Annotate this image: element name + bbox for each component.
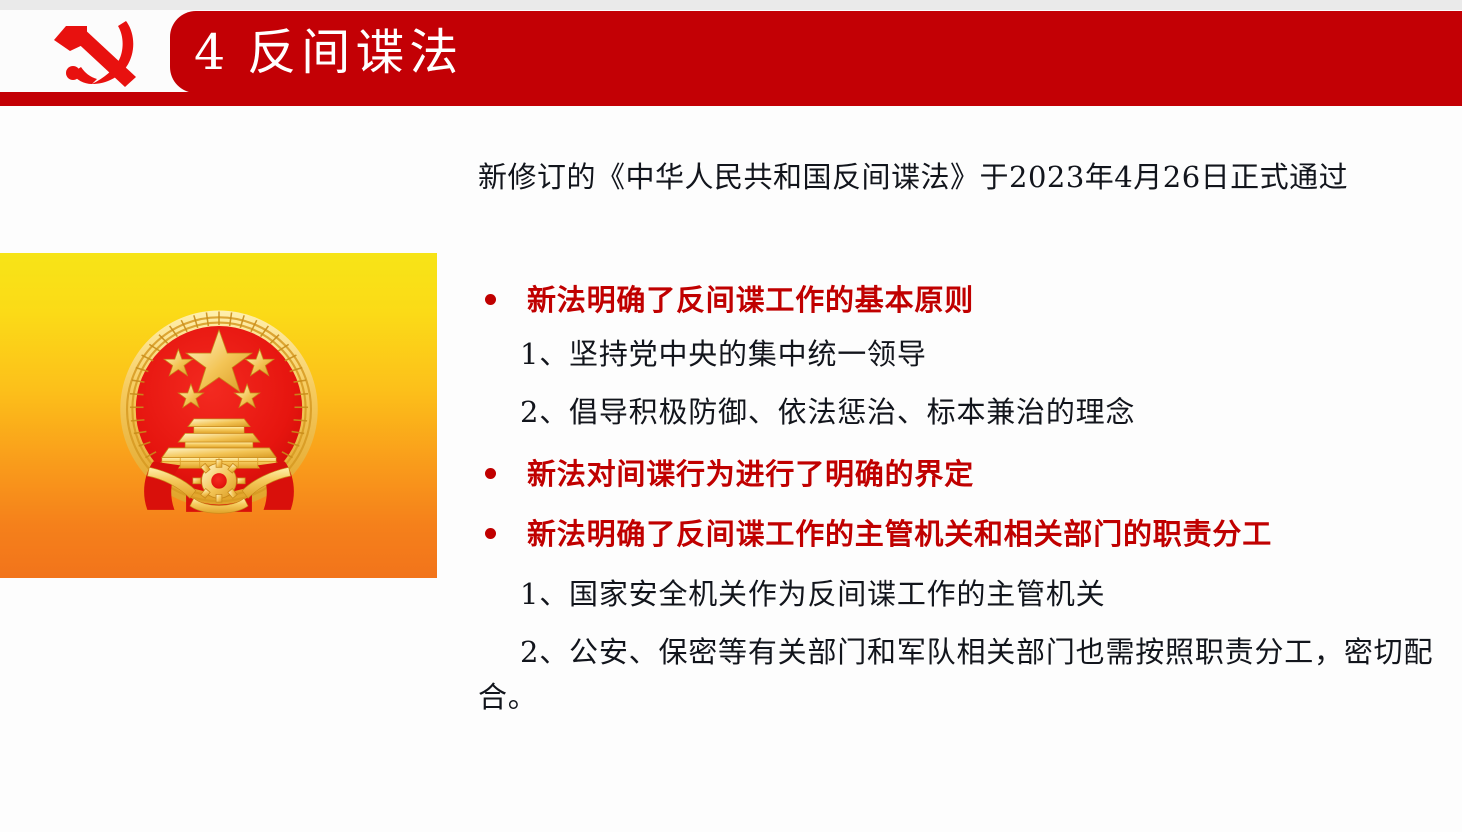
page-title: 4反间谍法 <box>194 16 463 90</box>
bullet-dot-icon <box>485 468 496 479</box>
bullet-dot-icon <box>485 528 496 539</box>
bullet-item: 新法明确了反间谍工作的主管机关和相关部门的职责分工 <box>478 512 1462 556</box>
sub-item: 2、公安、保密等有关部门和军队相关部门也需按照职责分工，密切配 合。 <box>520 630 1462 720</box>
sub-item: 1、国家安全机关作为反间谍工作的主管机关 <box>520 572 1462 617</box>
slide-body: 新修订的《中华人民共和国反间谍法》于2023年4月26日正式通过 新法明确了反间… <box>0 0 1462 832</box>
bullet-dot-icon <box>485 294 496 305</box>
bullet-item: 新法明确了反间谍工作的基本原则 <box>478 278 1462 322</box>
bullet-item: 新法对间谍行为进行了明确的界定 <box>478 452 1462 496</box>
sub-item: 2、倡导积极防御、依法惩治、标本兼治的理念 <box>520 390 1462 435</box>
page-title-number: 4 <box>194 24 247 81</box>
page-title-label: 反间谍法 <box>247 24 463 81</box>
bullet-label: 新法明确了反间谍工作的主管机关和相关部门的职责分工 <box>527 512 1462 556</box>
bullet-label: 新法明确了反间谍工作的基本原则 <box>527 278 1462 322</box>
slide-canvas: 4反间谍法 <box>0 0 1462 832</box>
lead-statement: 新修订的《中华人民共和国反间谍法》于2023年4月26日正式通过 <box>478 155 1458 199</box>
bullet-label: 新法对间谍行为进行了明确的界定 <box>527 452 1462 496</box>
sub-item-continuation: 合。 <box>478 675 1462 720</box>
party-hammer-sickle-emblem-icon <box>40 18 156 88</box>
sub-item-line1: 2、公安、保密等有关部门和军队相关部门也需按照职责分工，密切配 <box>520 635 1433 669</box>
sub-item: 1、坚持党中央的集中统一领导 <box>520 332 1462 377</box>
